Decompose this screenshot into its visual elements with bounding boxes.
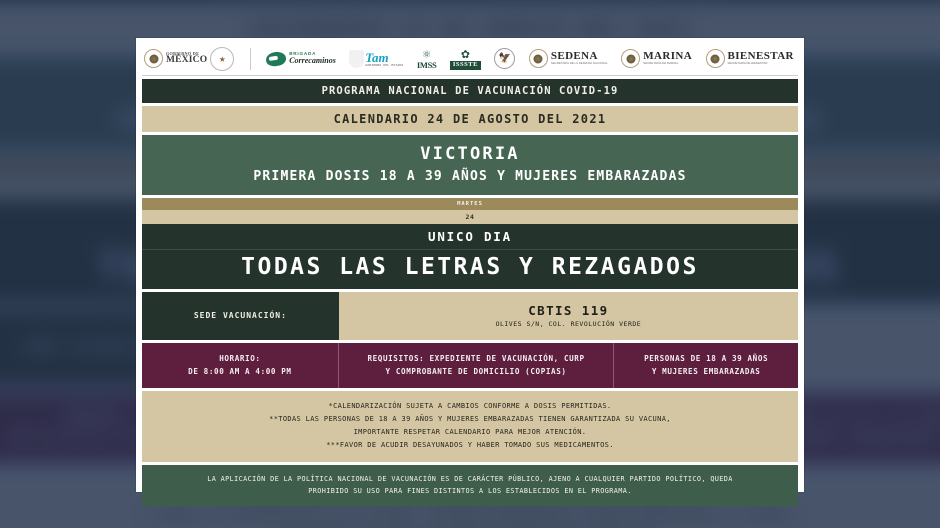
logo-issste: ✿ ISSSTE [450,47,481,70]
program-title: PROGRAMA NACIONAL DE VACUNACIÓN COVID-19 [142,79,798,103]
letters-line: TODAS LAS LETRAS Y REZAGADOS [142,249,798,289]
logo-sedena: SEDENA SECRETARÍA DE LA DEFENSA NACIONAL [529,49,608,68]
note-line-3: IMPORTANTE RESPETAR CALENDARIO PARA MEJO… [152,426,788,439]
logo-line1: IMSS [417,61,437,70]
legal-line-2: PROHIBIDO SU USO PARA FINES DISTINTOS A … [154,485,786,497]
logo-line2: SECRETARÍA DE MARINA [643,62,692,66]
sede-name: CBTIS 119 [528,302,608,321]
unico-dia-label: UNICO DIA [142,224,798,249]
issste-emblem-icon: ✿ [461,47,469,61]
logo-marina: MARINA SECRETARÍA DE MARINA [621,49,692,68]
city-name: VICTORIA [142,142,798,168]
logo-line2: GOBIERNO DEL ESTADO [365,64,403,67]
logo-tamaulipas: Tam GOBIERNO DEL ESTADO [349,50,403,68]
shield-icon [349,50,364,68]
dose-line: PRIMERA DOSIS 18 A 39 AÑOS Y MUJERES EMB… [142,168,798,186]
logo-line1: ISSSTE [450,61,481,70]
requisitos-line-2: Y COMPROBANTE DE DOMICILIO (COPIAS) [386,366,567,379]
legal-line-1: LA APLICACIÓN DE LA POLÍTICA NACIONAL DE… [154,473,786,485]
logo-divider [250,48,251,70]
requisitos-cell: REQUISITOS: EXPEDIENTE DE VACUNACIÓN, CU… [339,343,615,388]
sede-row: SEDE VACUNACIÓN: CBTIS 119 OLIVES S/N, C… [142,292,798,341]
requisitos-line-1: REQUISITOS: EXPEDIENTE DE VACUNACIÓN, CU… [367,353,584,366]
eagle-seal-icon: ★ [210,47,234,71]
seal-icon [706,49,725,68]
roadrunner-icon [265,50,287,67]
seal-icon [144,49,163,68]
calendar-date: CALENDARIO 24 DE AGOSTO DEL 2021 [142,106,798,132]
sede-value: CBTIS 119 OLIVES S/N, COL. REVOLUCIÓN VE… [339,292,798,341]
note-line-1: *CALENDARIZACIÓN SUJETA A CAMBIOS CONFOR… [152,400,788,413]
horario-cell: HORARIO: DE 8:00 AM A 4:00 PM [142,343,339,388]
note-line-4: ***FAVOR DE ACUDIR DESAYUNADOS Y HABER T… [152,439,788,452]
logo-gobierno-de-mexico: GOBIERNO DE MÉXICO ★ [144,47,234,71]
logo-line2: SECRETARÍA DE BIENESTAR [728,62,794,66]
notes-block: *CALENDARIZACIÓN SUJETA A CAMBIOS CONFOR… [142,391,798,462]
logo-strip: GOBIERNO DE MÉXICO ★ BRIGADA Correcamino… [142,42,798,76]
horario-label: HORARIO: [219,353,260,366]
logo-line2: SECRETARÍA DE LA DEFENSA NACIONAL [551,62,608,66]
imss-emblem-icon: ⚛ [423,48,431,61]
logo-imss: ⚛ IMSS [417,48,437,70]
poster-card: GOBIERNO DE MÉXICO ★ BRIGADA Correcamino… [136,38,804,492]
sede-label: SEDE VACUNACIÓN: [142,292,339,341]
logo-line1: Tam [365,51,403,64]
legal-block: LA APLICACIÓN DE LA POLÍTICA NACIONAL DE… [142,465,798,506]
seal-icon [529,49,548,68]
note-line-2: **TODAS LAS PERSONAS DE 18 A 39 AÑOS Y M… [152,413,788,426]
personas-cell: PERSONAS DE 18 A 39 AÑOS Y MUJERES EMBAR… [614,343,798,388]
personas-line-1: PERSONAS DE 18 A 39 AÑOS [644,353,768,366]
personas-line-2: Y MUJERES EMBARAZADAS [652,366,761,379]
sede-address: OLIVES S/N, COL. REVOLUCIÓN VERDE [496,320,642,330]
horario-value: DE 8:00 AM A 4:00 PM [188,366,291,379]
logo-line2: Correcaminos [289,57,336,65]
weekday-label: MARTES [142,198,798,210]
seal-icon [621,49,640,68]
logo-brigada-correcaminos: BRIGADA Correcaminos [266,52,336,66]
logo-line2: MÉXICO [166,56,207,66]
horario-row: HORARIO: DE 8:00 AM A 4:00 PM REQUISITOS… [142,343,798,388]
logo-bienestar: BIENESTAR SECRETARÍA DE BIENESTAR [706,49,794,68]
city-band: VICTORIA PRIMERA DOSIS 18 A 39 AÑOS Y MU… [142,135,798,195]
day-number: 24 [142,210,798,224]
logo-sedena-seal: 🦅 [494,48,515,69]
